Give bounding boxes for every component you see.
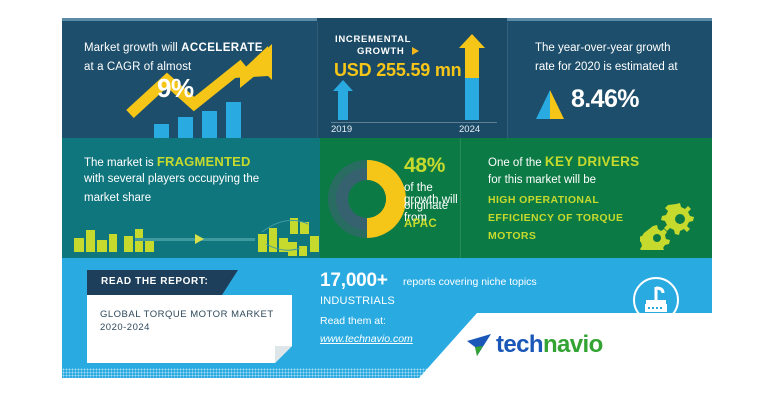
read-the-report-tab[interactable]: READ THE REPORT: — [87, 270, 222, 295]
gears-icon — [640, 200, 696, 250]
incremental-value: USD 255.59 mn — [334, 60, 461, 81]
incremental-title-line-2: GROWTH — [357, 46, 404, 57]
panel-fragmented: The market is FRAGMENTED with several pl… — [62, 138, 320, 258]
reports-count: 17,000+ — [320, 270, 388, 292]
drivers-line-4: EFFICIENCY OF TORQUE — [488, 212, 623, 224]
cagr-value: 9% — [157, 73, 194, 104]
cagr-line-1: Market growth will ACCELERATE — [84, 42, 263, 54]
drivers-line-1: One of the KEY DRIVERS — [488, 154, 639, 169]
panel-divider — [507, 22, 508, 138]
yoy-line-2: rate for 2020 is estimated at — [535, 61, 678, 73]
apac-region-label: APAC — [404, 218, 437, 230]
play-triangle-icon — [412, 47, 419, 55]
fragmented-line-3: market share — [84, 192, 151, 204]
card-fold-shadow — [275, 346, 292, 363]
sector-label: INDUSTRIALS — [320, 295, 395, 307]
reports-description: reports covering niche topics — [403, 276, 537, 288]
small-up-arrow-icon — [333, 80, 353, 120]
cagr-line-2: at a CAGR of almost — [84, 61, 191, 73]
report-title-line-1: GLOBAL TORQUE MOTOR MARKET — [100, 309, 274, 320]
panel-yoy-growth: The year-over-year growth rate for 2020 … — [507, 18, 712, 138]
drivers-line-5: MOTORS — [488, 230, 536, 242]
panel-apac-share: 48% of the growth will originate from AP… — [320, 138, 460, 258]
report-card[interactable]: GLOBAL TORQUE MOTOR MARKET 2020-2024 — [87, 295, 292, 363]
drivers-line-2: for this market will be — [488, 174, 596, 186]
incremental-title-line-1: INCREMENTAL — [335, 34, 411, 45]
panel-key-drivers: One of the KEY DRIVERS for this market w… — [460, 138, 712, 258]
technavio-wordmark: technavio — [496, 331, 603, 359]
cagr-emphasis: ACCELERATE — [181, 42, 263, 54]
city-buildings-cluster-icon — [62, 216, 320, 258]
fragmented-line-2: with several players occupying the — [84, 173, 259, 185]
fragmented-line-1: The market is FRAGMENTED — [84, 154, 251, 169]
incremental-year-start: 2019 — [331, 124, 352, 135]
yoy-value: 8.46% — [571, 85, 639, 114]
row-market-growth: Market growth will ACCELERATE at a CAGR … — [62, 18, 712, 138]
panel-cagr: Market growth will ACCELERATE at a CAGR … — [62, 18, 317, 138]
read-them-at-label: Read them at: — [320, 315, 386, 327]
row-report-footer: READ THE REPORT: GLOBAL TORQUE MOTOR MAR… — [62, 258, 712, 378]
arrow-connector-icon — [195, 234, 204, 244]
halftone-strip — [62, 368, 712, 378]
axis-baseline — [331, 122, 497, 123]
tab-corner-shape — [222, 270, 238, 295]
fragmented-emphasis: FRAGMENTED — [157, 154, 251, 169]
donut-chart-icon — [326, 158, 408, 240]
trend-arrow-icon — [122, 44, 297, 122]
row-market-structure: The market is FRAGMENTED with several pl… — [62, 138, 712, 258]
triangle-growth-icon — [534, 88, 566, 120]
infographic-canvas: Market growth will ACCELERATE at a CAGR … — [62, 18, 712, 378]
read-the-report-label: READ THE REPORT: — [101, 276, 208, 287]
panel-incremental-growth: INCREMENTAL GROWTH USD 255.59 mn 2019 20… — [317, 18, 507, 138]
incremental-year-end: 2024 — [459, 124, 480, 135]
panel-divider — [317, 22, 318, 138]
drivers-line-3: HIGH OPERATIONAL — [488, 194, 599, 206]
apac-value: 48% — [404, 154, 445, 178]
panel-divider — [460, 138, 461, 258]
drivers-emphasis: KEY DRIVERS — [545, 154, 640, 169]
large-up-arrow-icon — [459, 34, 485, 120]
technavio-paper-plane-icon — [467, 334, 493, 356]
website-url-link[interactable]: www.technavio.com — [320, 333, 413, 345]
yoy-line-1: The year-over-year growth — [535, 42, 671, 54]
report-title-line-2: 2020-2024 — [100, 322, 150, 333]
